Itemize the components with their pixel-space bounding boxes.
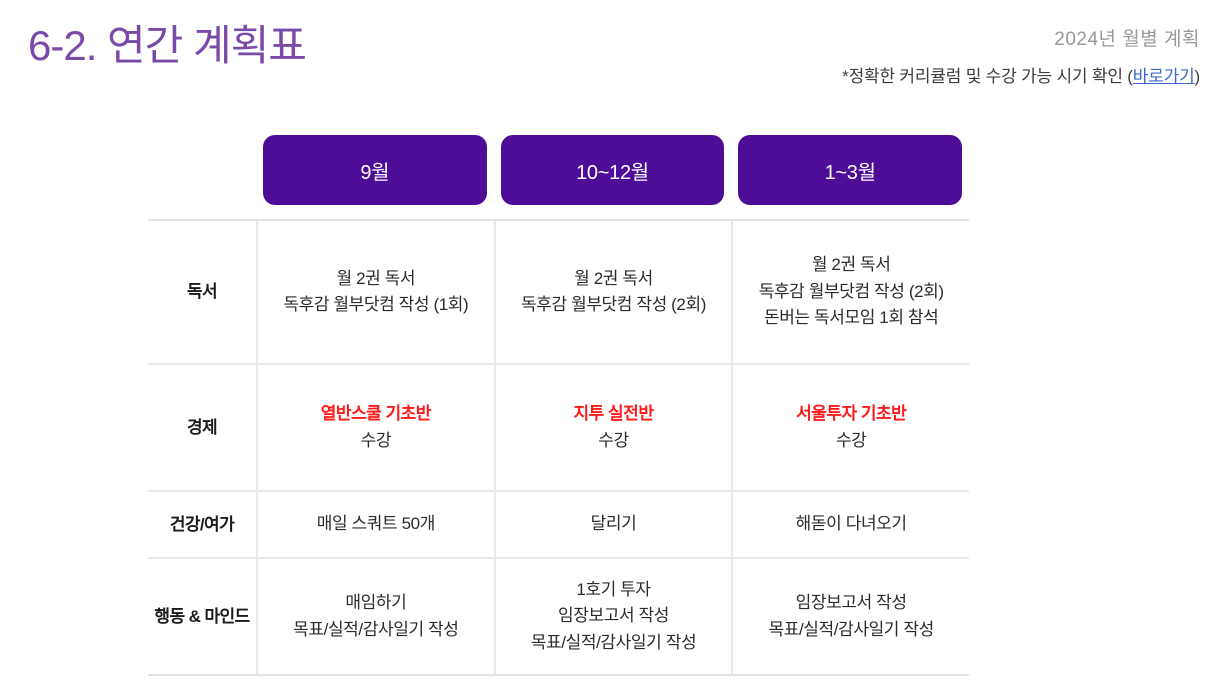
cell-economy-oct-dec: 지투 실전반 수강 <box>494 365 732 490</box>
cell-line: 해돋이 다녀오기 <box>796 511 907 537</box>
cell-line: 매일 스쿼트 50개 <box>317 511 435 537</box>
cell-content: 매일 스쿼트 50개 <box>317 511 435 537</box>
table-row: 행동 & 마인드 매임하기 목표/실적/감사일기 작성 1호기 투자 임장보고서… <box>148 559 969 674</box>
row-label-text: 행동 <box>154 607 184 626</box>
column-header-pill-label: 10~12월 <box>501 135 725 205</box>
cell-line: 수강 <box>574 428 654 454</box>
cell-line: 월 2권 독서 <box>283 266 468 292</box>
cell-content: 월 2권 독서 독후감 월부닷컴 작성 (1회) <box>283 266 468 319</box>
cell-line: 목표/실적/감사일기 작성 <box>293 617 458 643</box>
row-label-text: & <box>189 607 201 626</box>
table-row: 독서 월 2권 독서 독후감 월부닷컴 작성 (1회) 월 2권 독서 독후감 … <box>148 221 969 365</box>
cell-line: 목표/실적/감사일기 작성 <box>531 630 696 656</box>
cell-content: 서울투자 기초반 수강 <box>796 401 906 454</box>
cell-action-sep: 매임하기 목표/실적/감사일기 작성 <box>256 559 494 674</box>
cell-line: 돈버는 독서모임 1회 참석 <box>759 305 944 331</box>
curriculum-note-suffix: ) <box>1195 67 1200 86</box>
column-header-1[interactable]: 10~12월 <box>494 135 732 219</box>
curriculum-note: *정확한 커리큘럼 및 수강 가능 시기 확인 (바로가기) <box>842 62 1200 87</box>
cell-line: 독후감 월부닷컴 작성 (2회) <box>521 292 706 318</box>
cell-action-jan-mar: 임장보고서 작성 목표/실적/감사일기 작성 <box>731 559 969 674</box>
annual-plan-table: 9월 10~12월 1~3월 독서 월 2권 독서 독후감 월부닷컴 작성 (1… <box>148 135 969 676</box>
cell-line: 임장보고서 작성 <box>531 603 696 629</box>
cell-line-highlight: 열반스쿨 기초반 <box>321 401 431 427</box>
cell-content: 열반스쿨 기초반 수강 <box>321 401 431 454</box>
cell-line-highlight: 서울투자 기초반 <box>796 401 906 427</box>
row-label-text: 독서 <box>187 281 217 303</box>
curriculum-link[interactable]: 바로가기 <box>1133 67 1195 86</box>
column-header-0[interactable]: 9월 <box>256 135 494 219</box>
cell-line: 수강 <box>321 428 431 454</box>
cell-economy-jan-mar: 서울투자 기초반 수강 <box>731 365 969 490</box>
cell-content: 매임하기 목표/실적/감사일기 작성 <box>293 590 458 643</box>
cell-content: 해돋이 다녀오기 <box>796 511 907 537</box>
cell-reading-jan-mar: 월 2권 독서 독후감 월부닷컴 작성 (2회) 돈버는 독서모임 1회 참석 <box>731 221 969 363</box>
cell-content: 지투 실전반 수강 <box>574 401 654 454</box>
row-label-multiline: 행동 & 마인드 <box>154 606 249 628</box>
cell-content: 1호기 투자 임장보고서 작성 목표/실적/감사일기 작성 <box>531 577 696 656</box>
cell-line: 수강 <box>796 428 906 454</box>
cell-line: 독후감 월부닷컴 작성 (1회) <box>283 292 468 318</box>
row-label-text: 경제 <box>187 417 217 439</box>
cell-reading-sep: 월 2권 독서 독후감 월부닷컴 작성 (1회) <box>256 221 494 363</box>
cell-line: 월 2권 독서 <box>759 252 944 278</box>
cell-economy-sep: 열반스쿨 기초반 수강 <box>256 365 494 490</box>
cell-line: 독후감 월부닷컴 작성 (2회) <box>759 279 944 305</box>
row-label-economy: 경제 <box>148 365 256 490</box>
cell-health-oct-dec: 달리기 <box>494 492 732 557</box>
cell-content: 임장보고서 작성 목표/실적/감사일기 작성 <box>768 590 933 643</box>
row-label-text: 마인드 <box>204 607 249 626</box>
cell-health-jan-mar: 해돋이 다녀오기 <box>731 492 969 557</box>
column-header-pill-label: 9월 <box>263 135 487 205</box>
cell-action-oct-dec: 1호기 투자 임장보고서 작성 목표/실적/감사일기 작성 <box>494 559 732 674</box>
cell-line: 월 2권 독서 <box>521 266 706 292</box>
table-row: 건강/여가 매일 스쿼트 50개 달리기 해돋이 다녀오기 <box>148 492 969 559</box>
cell-line: 1호기 투자 <box>531 577 696 603</box>
column-header-2[interactable]: 1~3월 <box>731 135 969 219</box>
slide-page: 6-2. 연간 계획표 2024년 월별 계획 *정확한 커리큘럼 및 수강 가… <box>0 0 1216 684</box>
cell-health-sep: 매일 스쿼트 50개 <box>256 492 494 557</box>
cell-line: 매임하기 <box>293 590 458 616</box>
cell-line: 달리기 <box>591 511 637 537</box>
cell-content: 달리기 <box>591 511 637 537</box>
row-label-reading: 독서 <box>148 221 256 363</box>
table-row: 경제 열반스쿨 기초반 수강 지투 실전반 수강 서울투자 기초반 수강 <box>148 365 969 492</box>
year-label: 2024년 월별 계획 <box>842 24 1200 51</box>
row-label-action-mind: 행동 & 마인드 <box>148 559 256 674</box>
cell-line-highlight: 지투 실전반 <box>574 401 654 427</box>
row-label-health-leisure: 건강/여가 <box>148 492 256 557</box>
header-corner-spacer <box>148 135 256 219</box>
column-header-pill-label: 1~3월 <box>738 135 962 205</box>
table-header-row: 9월 10~12월 1~3월 <box>148 135 969 219</box>
page-title: 6-2. 연간 계획표 <box>28 12 306 73</box>
row-label-text: 건강/여가 <box>170 514 234 536</box>
cell-reading-oct-dec: 월 2권 독서 독후감 월부닷컴 작성 (2회) <box>494 221 732 363</box>
cell-line: 임장보고서 작성 <box>768 590 933 616</box>
cell-content: 월 2권 독서 독후감 월부닷컴 작성 (2회) <box>521 266 706 319</box>
curriculum-note-prefix: *정확한 커리큘럼 및 수강 가능 시기 확인 ( <box>842 67 1133 86</box>
cell-content: 월 2권 독서 독후감 월부닷컴 작성 (2회) 돈버는 독서모임 1회 참석 <box>759 252 944 331</box>
cell-line: 목표/실적/감사일기 작성 <box>768 617 933 643</box>
header-meta: 2024년 월별 계획 *정확한 커리큘럼 및 수강 가능 시기 확인 (바로가… <box>842 24 1200 87</box>
table-body: 독서 월 2권 독서 독후감 월부닷컴 작성 (1회) 월 2권 독서 독후감 … <box>148 219 969 676</box>
